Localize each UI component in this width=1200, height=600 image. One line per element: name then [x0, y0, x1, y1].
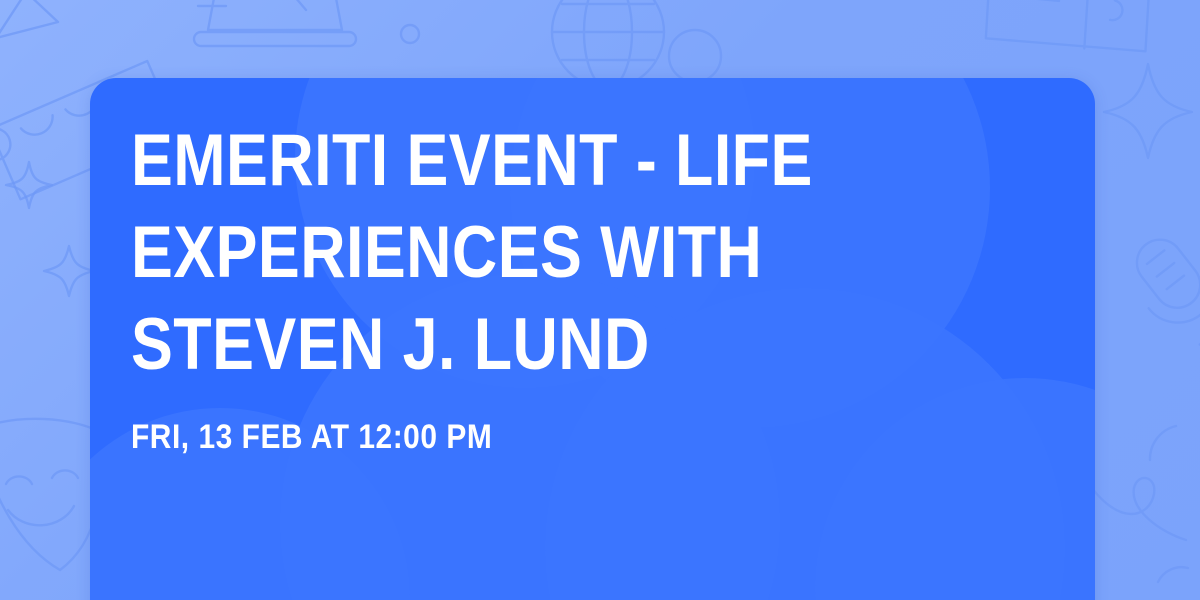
sparkle-icon [1098, 56, 1198, 166]
event-title: EMERITI EVENT - LIFE EXPERIENCES WITH ST… [131, 115, 915, 391]
event-poster: EMERITI EVENT - LIFE EXPERIENCES WITH ST… [0, 0, 1200, 600]
confetti-swirl-icon [1080, 420, 1200, 600]
confetti-swirl-icon [390, 14, 430, 54]
sparkle-small-icon [0, 150, 64, 220]
microphone-icon [1120, 215, 1200, 355]
event-card[interactable]: EMERITI EVENT - LIFE EXPERIENCES WITH ST… [90, 78, 1095, 600]
ticket-stub-icon [960, 0, 1180, 90]
event-datetime: FRI, 13 FEB AT 12:00 PM [131, 417, 934, 457]
laptop-presentation-icon [180, 0, 370, 58]
sparkle-small-icon [0, 0, 92, 66]
card-content: EMERITI EVENT - LIFE EXPERIENCES WITH ST… [90, 78, 1095, 457]
